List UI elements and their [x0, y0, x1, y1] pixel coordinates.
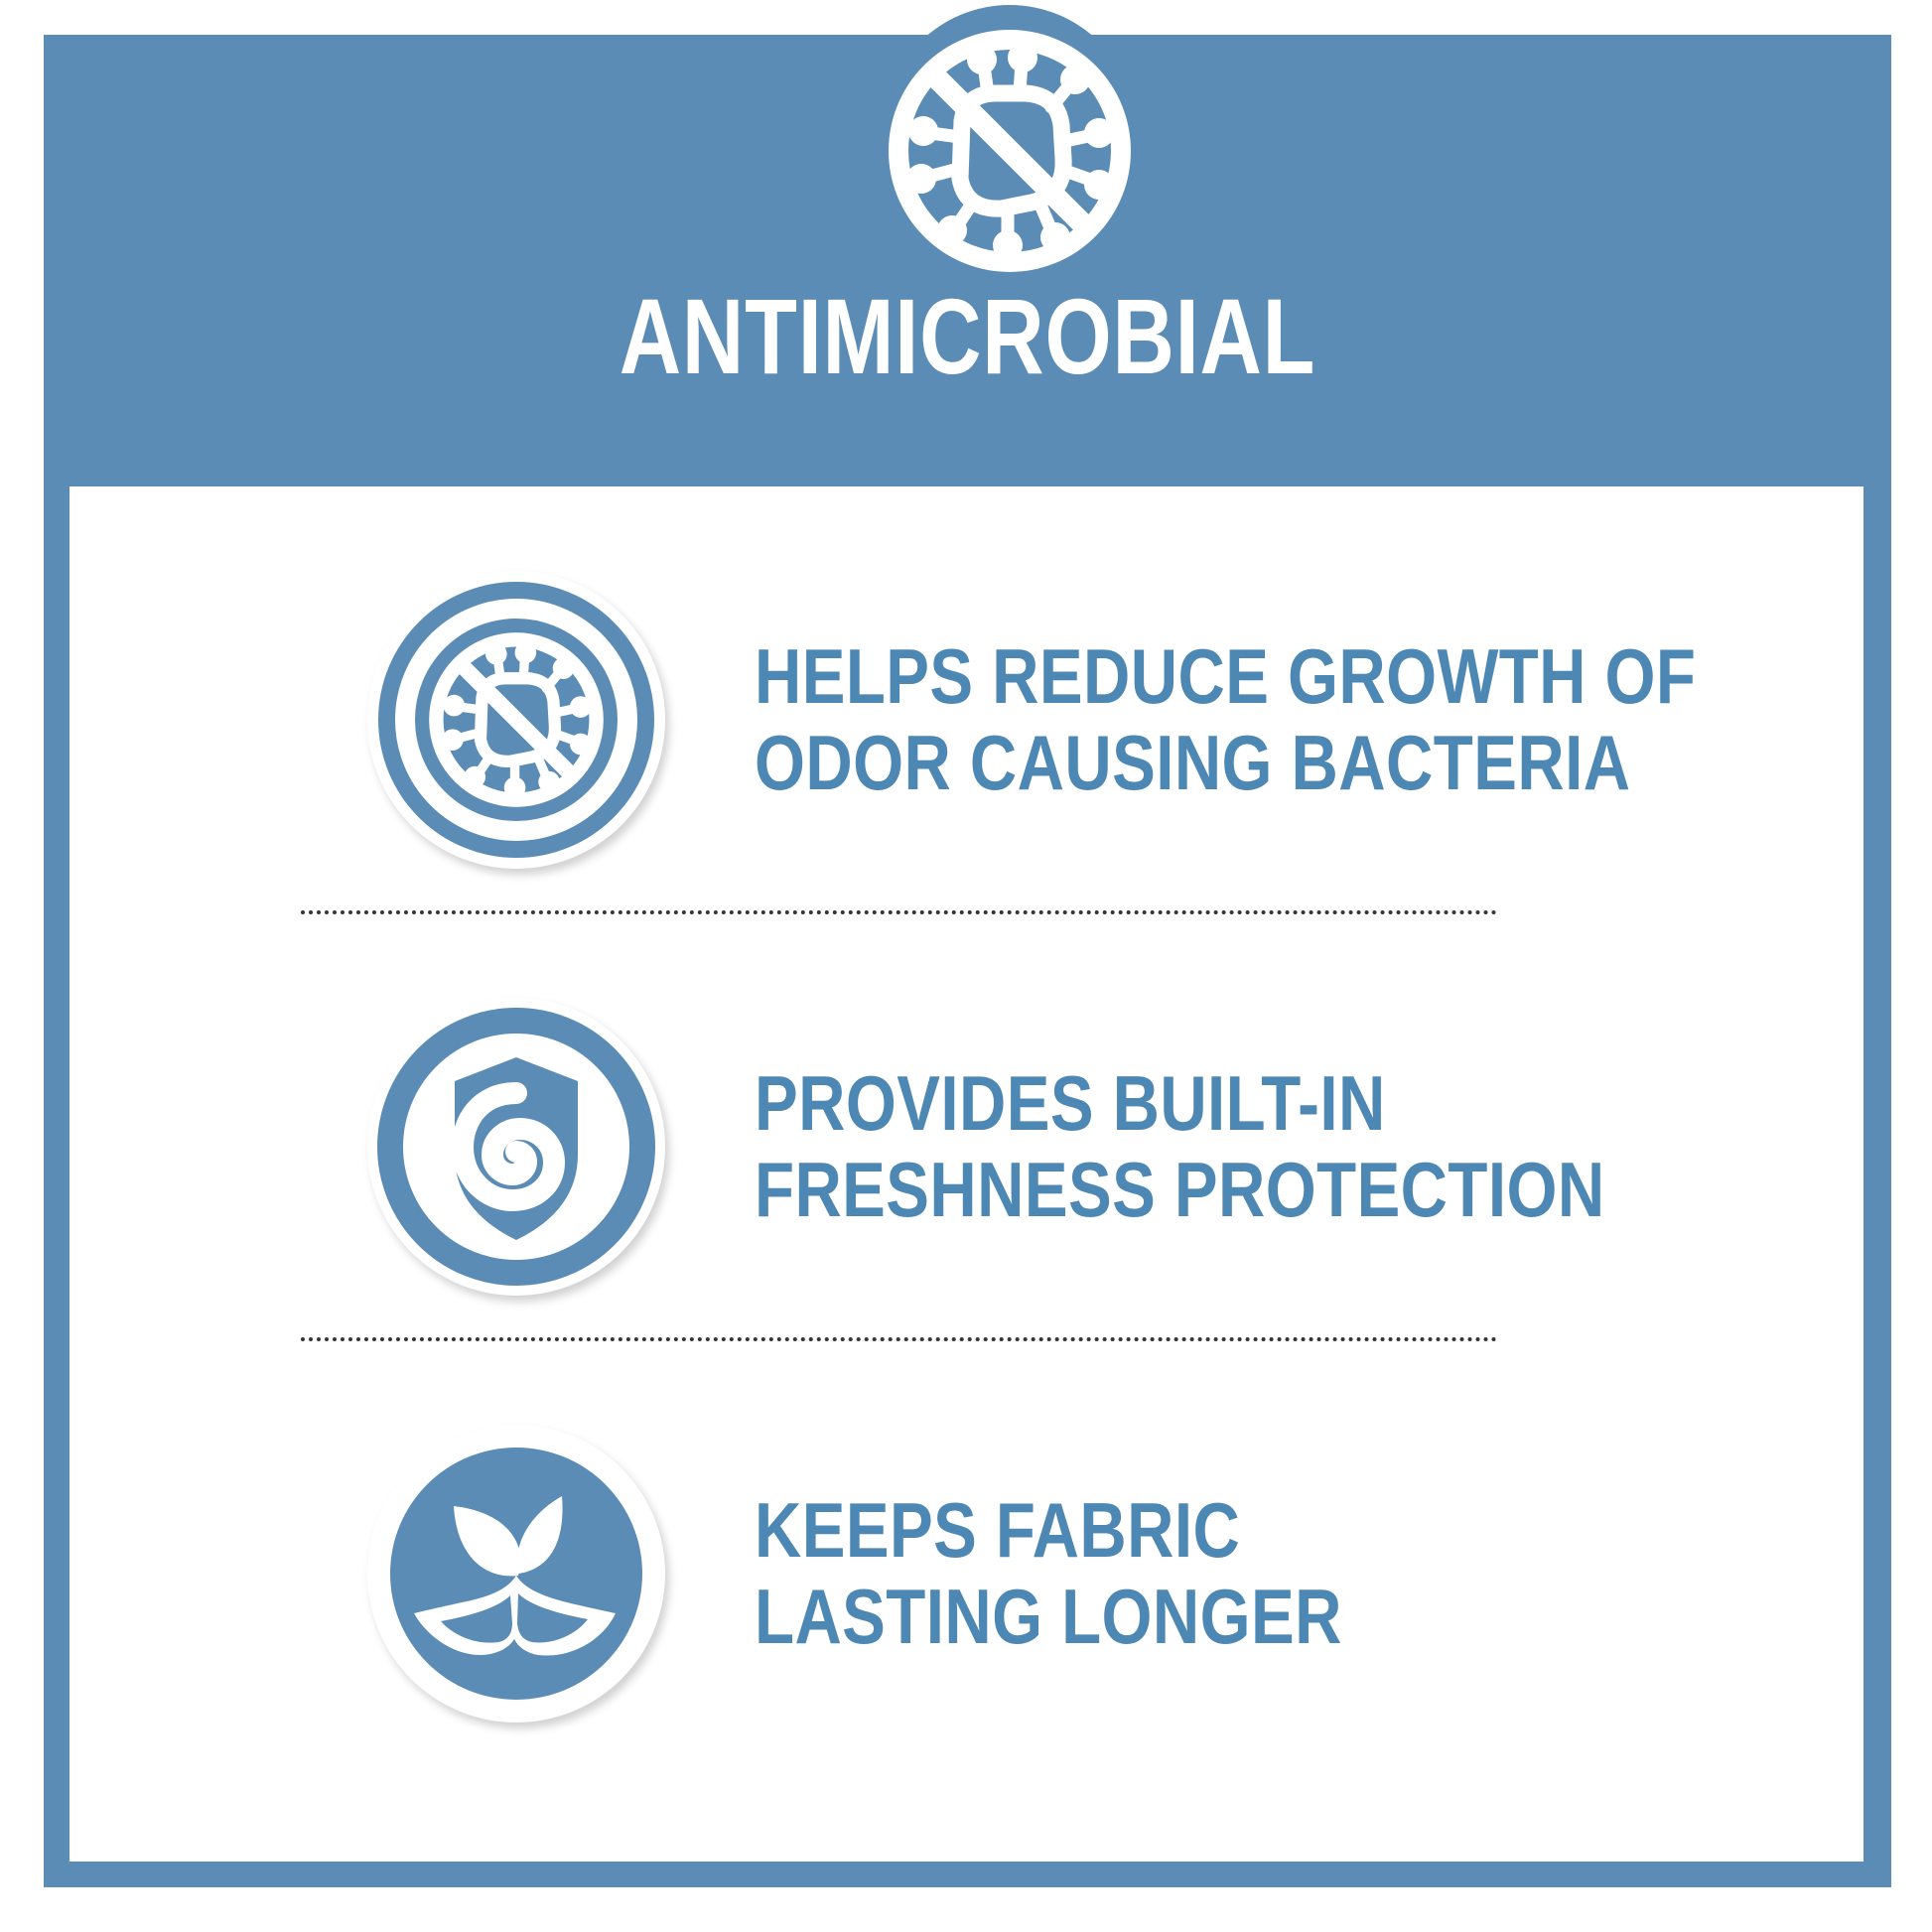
row-divider — [301, 1337, 1497, 1341]
feature-text: KEEPS FABRIC LASTING LONGER — [755, 1487, 1342, 1661]
no-microbe-badge-icon — [367, 571, 665, 869]
feature-text-line: ODOR CAUSING BACTERIA — [755, 720, 1696, 806]
feature-text-line: KEEPS FABRIC — [755, 1487, 1342, 1574]
infographic-canvas: ANTIMICROBIAL — [0, 0, 1932, 1932]
feature-text-line: LASTING LONGER — [755, 1574, 1342, 1660]
row-divider — [301, 910, 1497, 914]
feature-text-line: FRESHNESS PROTECTION — [755, 1147, 1605, 1233]
feature-text: PROVIDES BUILT-IN FRESHNESS PROTECTION — [755, 1060, 1605, 1234]
feature-list: HELPS REDUCE GROWTH OF ODOR CAUSING BACT… — [69, 486, 1863, 1862]
feature-text-line: PROVIDES BUILT-IN — [755, 1060, 1605, 1147]
feature-row: HELPS REDUCE GROWTH OF ODOR CAUSING BACT… — [69, 521, 1863, 918]
feature-row: PROVIDES BUILT-IN FRESHNESS PROTECTION — [69, 948, 1863, 1345]
shield-swirl-badge-icon — [367, 998, 665, 1296]
no-microbe-icon — [859, 0, 1161, 302]
header-banner: ANTIMICROBIAL — [44, 35, 1891, 486]
page-title: ANTIMICROBIAL — [228, 283, 1707, 390]
feature-row: KEEPS FABRIC LASTING LONGER — [69, 1375, 1863, 1772]
feature-text-line: HELPS REDUCE GROWTH OF — [755, 633, 1696, 720]
feature-text: HELPS REDUCE GROWTH OF ODOR CAUSING BACT… — [755, 633, 1696, 807]
leaf-sprout-badge-icon — [367, 1425, 665, 1723]
